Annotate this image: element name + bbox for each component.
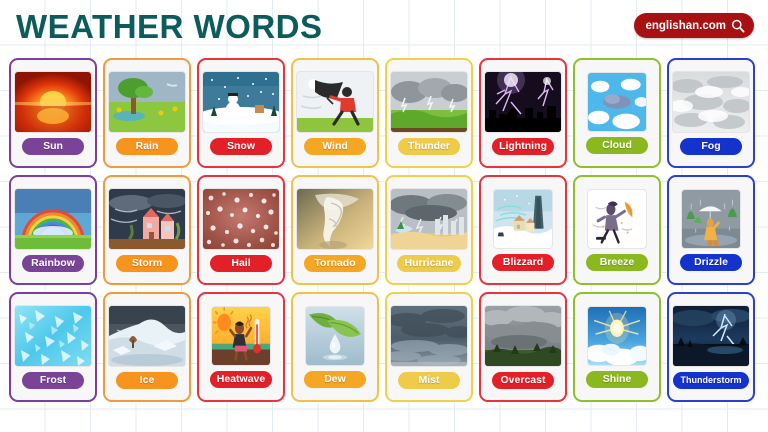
- weather-card-sun[interactable]: Sun: [9, 58, 97, 168]
- weather-label-snow: Snow: [210, 138, 272, 155]
- weather-card-hurricane[interactable]: Hurricane: [385, 175, 473, 285]
- blizzard-image: [494, 190, 552, 248]
- rain-tree-image: [109, 72, 185, 132]
- weather-label-thunderstorm: Thunderstorm: [673, 372, 749, 389]
- weather-label-frost: Frost: [22, 372, 84, 389]
- thunderstorm-image: [673, 306, 749, 366]
- weather-label-hurricane: Hurricane: [397, 255, 460, 272]
- frost-image: [15, 306, 91, 366]
- weather-label-storm: Storm: [116, 255, 178, 272]
- tornado-image: [297, 189, 373, 249]
- wind-person-image: [297, 72, 373, 132]
- snowman-image: [203, 72, 279, 132]
- hail-image: [203, 189, 279, 249]
- weather-label-sun: Sun: [22, 138, 84, 155]
- fog-image: [673, 72, 749, 132]
- weather-card-overcast[interactable]: Overcast: [479, 292, 567, 402]
- brand-logo[interactable]: englishan.com: [634, 13, 754, 38]
- breeze-image: [588, 190, 646, 248]
- weather-label-dew: Dew: [304, 371, 366, 388]
- infographic-page: WEATHER WORDS englishan.com Sun Rain: [0, 0, 768, 432]
- rainbow-image: [15, 189, 91, 249]
- weather-card-ice[interactable]: Ice: [103, 292, 191, 402]
- lightning-image: [485, 72, 561, 132]
- dew-image: [306, 307, 364, 365]
- weather-label-ice: Ice: [116, 372, 178, 389]
- weather-card-rainbow[interactable]: Rainbow: [9, 175, 97, 285]
- weather-label-rain: Rain: [116, 138, 178, 155]
- weather-card-drizzle[interactable]: Drizzle: [667, 175, 755, 285]
- weather-card-blizzard[interactable]: Blizzard: [479, 175, 567, 285]
- weather-label-lightning: Lightning: [492, 138, 554, 155]
- weather-card-thunder[interactable]: Thunder: [385, 58, 473, 168]
- weather-card-tornado[interactable]: Tornado: [291, 175, 379, 285]
- weather-label-heatwave: Heatwave: [210, 371, 272, 388]
- weather-card-dew[interactable]: Dew: [291, 292, 379, 402]
- weather-label-mist: Mist: [398, 372, 460, 389]
- weather-card-storm[interactable]: Storm: [103, 175, 191, 285]
- weather-card-wind[interactable]: Wind: [291, 58, 379, 168]
- header: WEATHER WORDS englishan.com: [0, 0, 768, 55]
- overcast-image: [485, 306, 561, 366]
- mist-image: [391, 306, 467, 366]
- weather-label-drizzle: Drizzle: [680, 254, 742, 271]
- weather-label-breeze: Breeze: [586, 254, 648, 271]
- weather-label-shine: Shine: [586, 371, 648, 388]
- sunset-image: [15, 72, 91, 132]
- weather-label-blizzard: Blizzard: [492, 254, 554, 271]
- weather-label-rainbow: Rainbow: [22, 255, 84, 272]
- drizzle-image: [682, 190, 740, 248]
- weather-card-frost[interactable]: Frost: [9, 292, 97, 402]
- ice-image: [109, 306, 185, 366]
- shine-image: [588, 307, 646, 365]
- weather-card-rain[interactable]: Rain: [103, 58, 191, 168]
- weather-card-mist[interactable]: Mist: [385, 292, 473, 402]
- page-title: WEATHER WORDS: [16, 6, 323, 47]
- brand-name: englishan.com: [645, 20, 726, 32]
- magnifier-icon: [731, 19, 745, 33]
- weather-card-grid: Sun Rain Snow Wind: [9, 58, 761, 402]
- weather-card-lightning[interactable]: Lightning: [479, 58, 567, 168]
- weather-label-cloud: Cloud: [586, 137, 648, 154]
- weather-label-wind: Wind: [304, 138, 366, 155]
- weather-card-hail[interactable]: Hail: [197, 175, 285, 285]
- clouds-image: [588, 73, 646, 131]
- weather-label-hail: Hail: [210, 255, 272, 272]
- weather-card-shine[interactable]: Shine: [573, 292, 661, 402]
- weather-label-fog: Fog: [680, 138, 742, 155]
- weather-card-fog[interactable]: Fog: [667, 58, 755, 168]
- weather-card-thunderstorm[interactable]: Thunderstorm: [667, 292, 755, 402]
- weather-label-tornado: Tornado: [304, 255, 366, 272]
- weather-card-snow[interactable]: Snow: [197, 58, 285, 168]
- thunder-hill-image: [391, 72, 467, 132]
- weather-card-cloud[interactable]: Cloud: [573, 58, 661, 168]
- weather-label-thunder: Thunder: [398, 138, 460, 155]
- storm-house-image: [109, 189, 185, 249]
- weather-label-overcast: Overcast: [492, 372, 554, 389]
- heatwave-image: [212, 307, 270, 365]
- weather-card-breeze[interactable]: Breeze: [573, 175, 661, 285]
- hurricane-image: [391, 189, 467, 249]
- weather-card-heatwave[interactable]: Heatwave: [197, 292, 285, 402]
